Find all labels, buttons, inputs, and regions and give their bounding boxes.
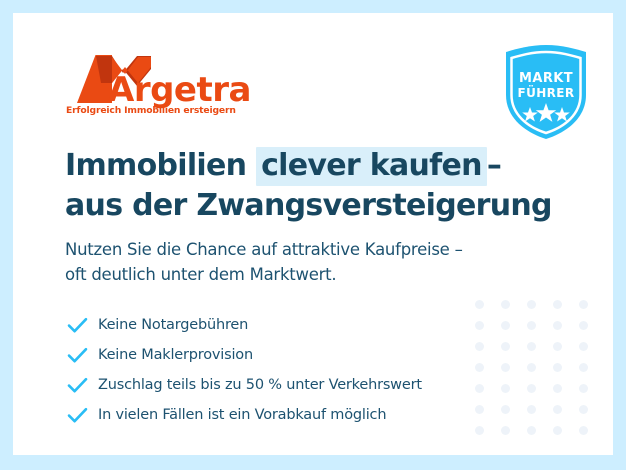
decorative-dot <box>527 342 536 351</box>
headline-part-2: – <box>487 148 501 183</box>
decorative-dot <box>553 321 562 330</box>
market-leader-badge: MARKT FÜHRER <box>500 43 592 141</box>
list-item: Keine Maklerprovision <box>67 340 527 370</box>
decorative-dot <box>527 300 536 309</box>
check-icon <box>67 407 98 424</box>
decorative-dot <box>579 300 588 309</box>
headline-line-2: aus der Zwangsversteigerung <box>65 187 565 224</box>
promo-banner: Argetra Erfolgreich Immobilien ersteiger… <box>0 0 626 470</box>
list-item: Zuschlag teils bis zu 50 % unter Verkehr… <box>67 370 527 400</box>
decorative-dot <box>553 426 562 435</box>
badge-line-2: FÜHRER <box>517 85 574 100</box>
decorative-dot <box>527 384 536 393</box>
benefit-label: In vielen Fällen ist ein Vorabkauf mögli… <box>98 407 386 423</box>
decorative-dot <box>553 363 562 372</box>
banner-card: Argetra Erfolgreich Immobilien ersteiger… <box>13 13 613 455</box>
badge-line-1: MARKT <box>519 71 573 86</box>
benefit-label: Keine Maklerprovision <box>98 347 253 363</box>
headline-highlight: clever kaufen <box>256 147 487 186</box>
decorative-dot <box>527 321 536 330</box>
benefits-list: Keine Notargebühren Keine Maklerprovisio… <box>67 310 527 430</box>
check-icon <box>67 377 98 394</box>
decorative-dot <box>579 426 588 435</box>
decorative-dot <box>527 426 536 435</box>
subheading: Nutzen Sie die Chance auf attraktive Kau… <box>65 237 535 287</box>
decorative-dot <box>579 363 588 372</box>
check-icon <box>67 317 98 334</box>
decorative-dot <box>527 363 536 372</box>
decorative-dot <box>579 384 588 393</box>
benefit-label: Zuschlag teils bis zu 50 % unter Verkehr… <box>98 377 422 393</box>
benefit-label: Keine Notargebühren <box>98 317 248 333</box>
page-title: Immobilien clever kaufen– aus der Zwangs… <box>65 147 565 224</box>
list-item: Keine Notargebühren <box>67 310 527 340</box>
logo-wordmark: Argetra <box>108 73 251 107</box>
shield-icon: MARKT FÜHRER <box>500 43 592 141</box>
logo-tagline: Erfolgreich Immobilien ersteigern <box>66 105 236 116</box>
decorative-dot <box>527 405 536 414</box>
decorative-dot <box>553 405 562 414</box>
decorative-dot <box>553 300 562 309</box>
decorative-dot <box>475 300 484 309</box>
decorative-dot <box>553 384 562 393</box>
decorative-dot <box>553 342 562 351</box>
decorative-dot <box>579 321 588 330</box>
decorative-dot <box>579 405 588 414</box>
subheading-line-1: Nutzen Sie die Chance auf attraktive Kau… <box>65 237 535 262</box>
argetra-logo[interactable]: Argetra Erfolgreich Immobilien ersteiger… <box>65 53 265 123</box>
check-icon <box>67 347 98 364</box>
subheading-line-2: oft deutlich unter dem Marktwert. <box>65 262 535 287</box>
decorative-dot <box>579 342 588 351</box>
decorative-dot <box>501 300 510 309</box>
headline-part-1: Immobilien <box>65 148 246 183</box>
list-item: In vielen Fällen ist ein Vorabkauf mögli… <box>67 400 527 430</box>
